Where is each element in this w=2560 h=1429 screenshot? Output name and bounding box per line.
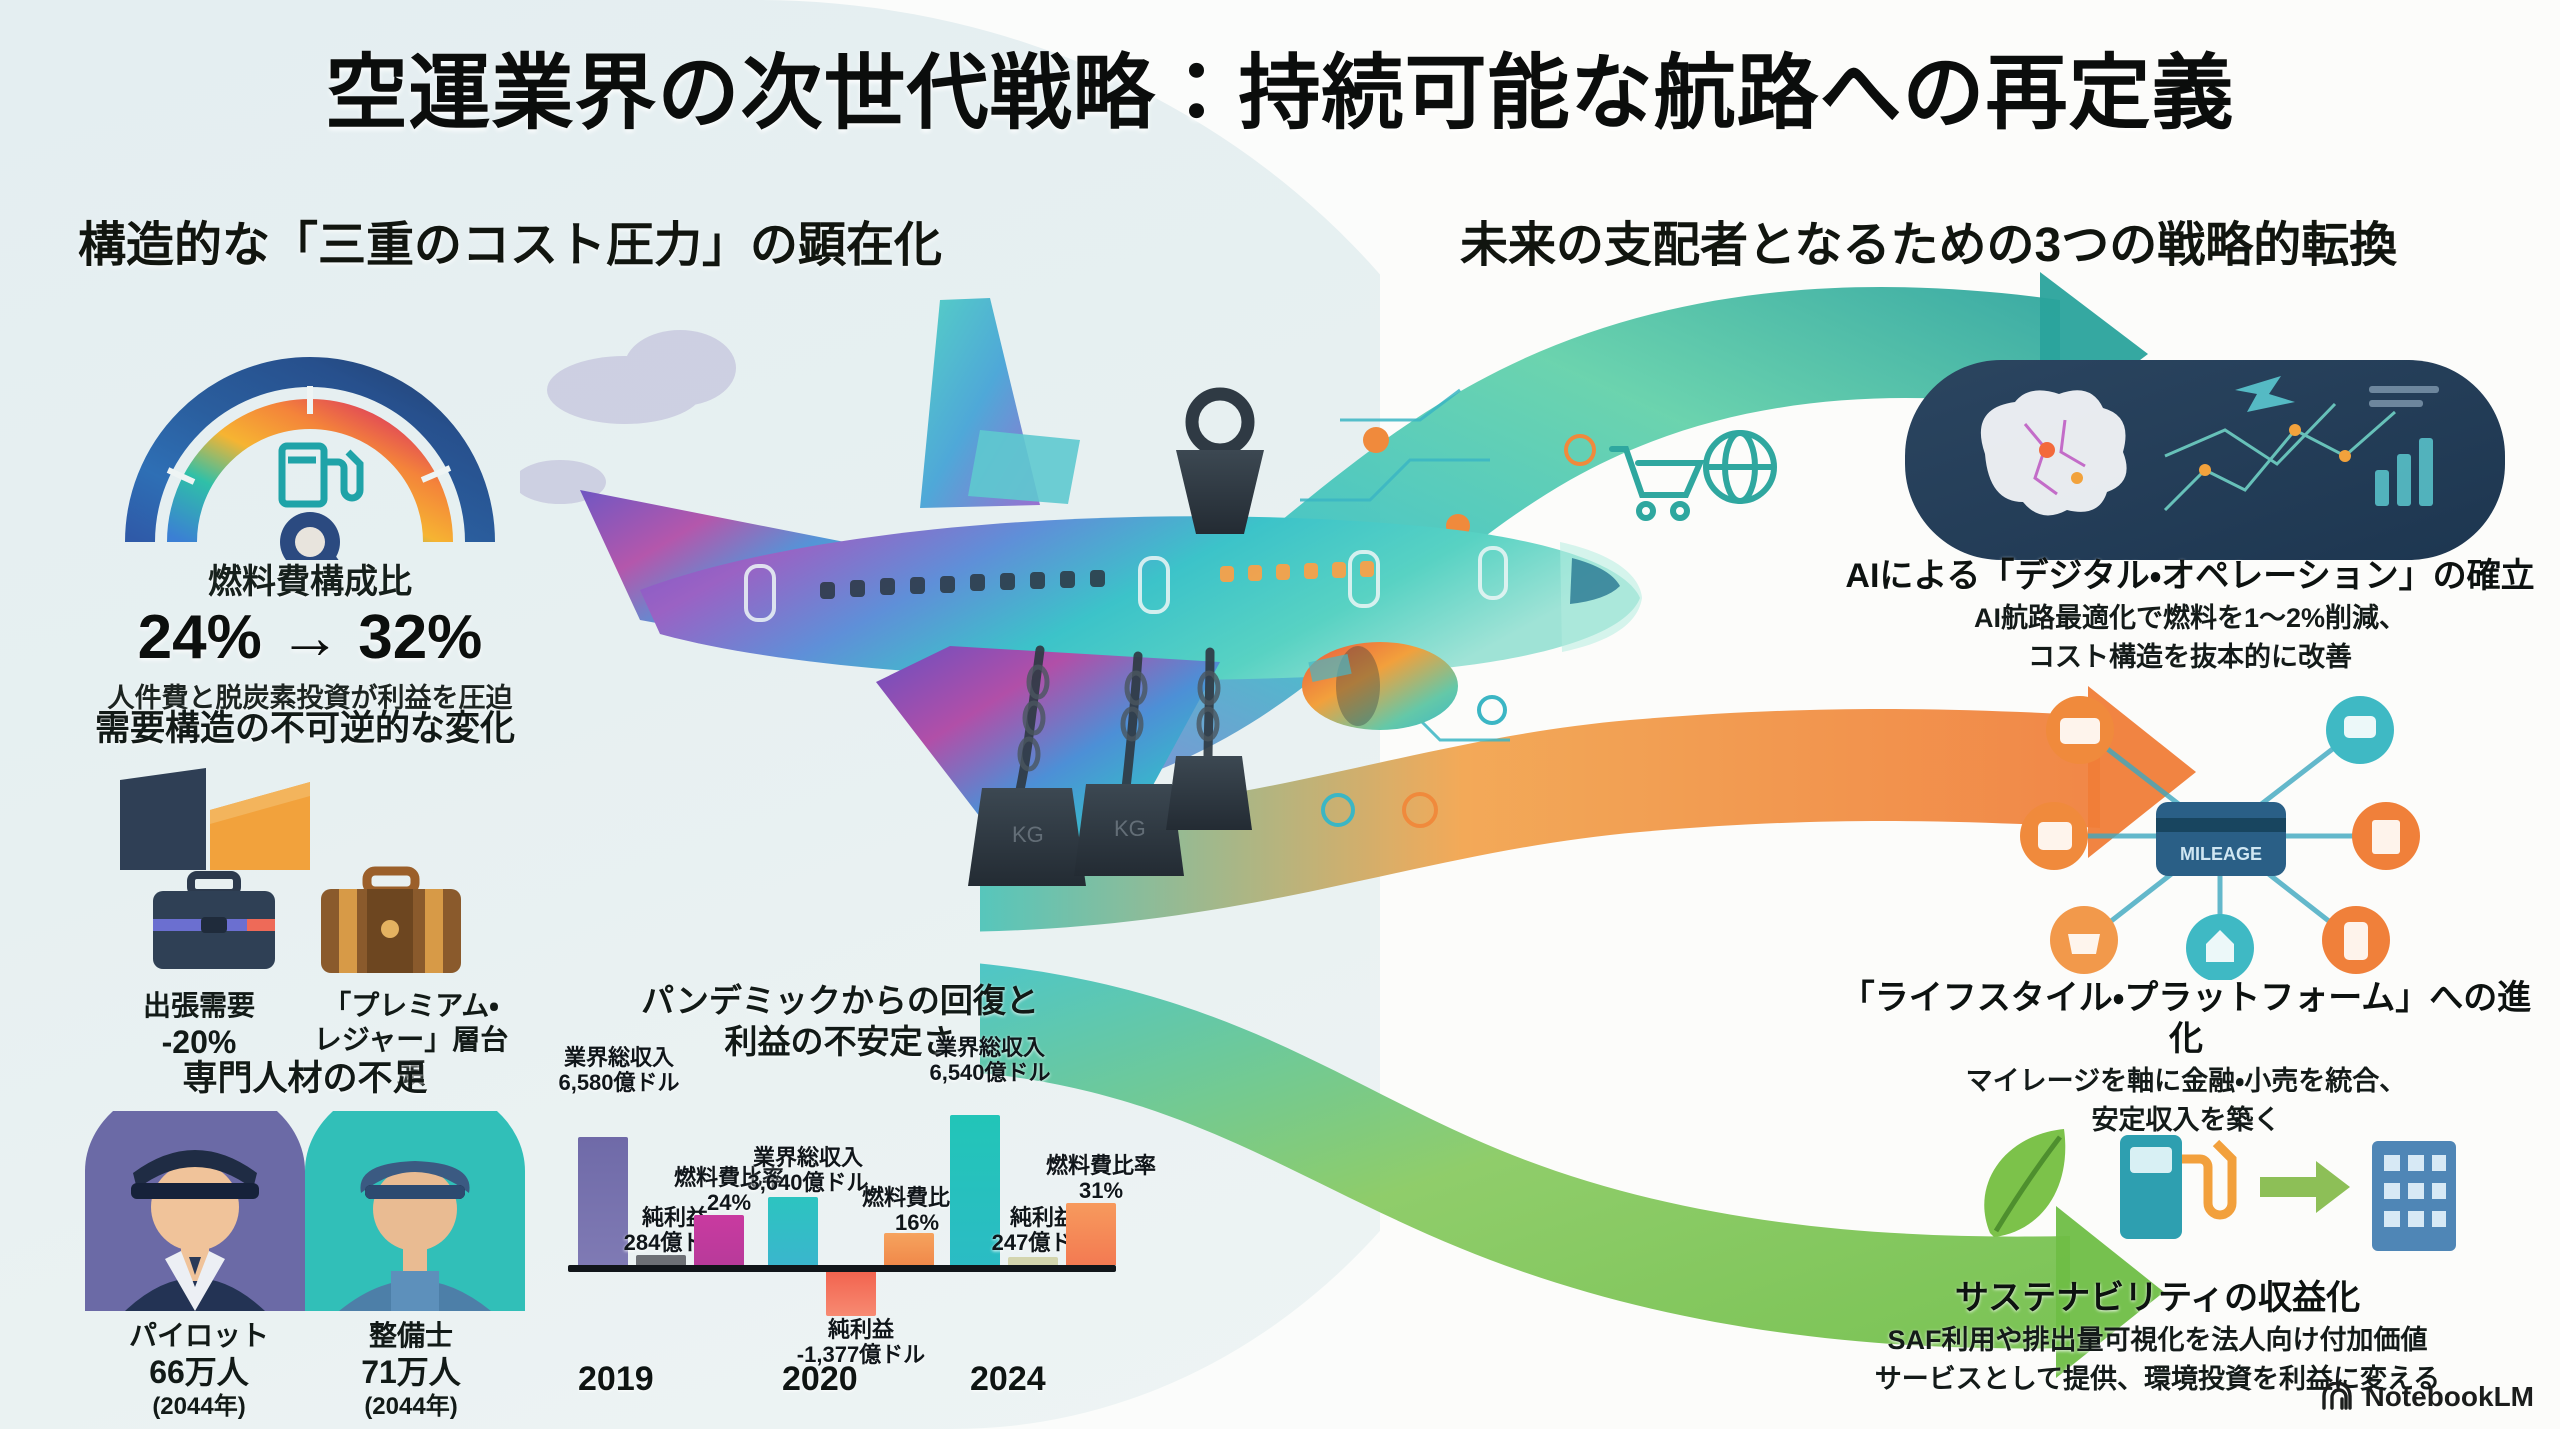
strategy-3-title: サステナビリティの収益化 — [1775, 1278, 2540, 1319]
strategy-3-desc-line1: SAF利用や排出量可視化を法人向け付加価値 — [1775, 1323, 2540, 1358]
bar-2019-fuel — [694, 1215, 744, 1265]
briefcase-icon — [139, 861, 289, 981]
mechanic-value: 71万人 — [311, 1353, 511, 1392]
strategy-sustainability-monetization: サステナビリティの収益化 SAF利用や排出量可視化を法人向け付加価値 サービスと… — [1775, 1278, 2540, 1397]
strategy-1-title: AIによる「デジタル・オペレーション」の確立 — [1840, 556, 2540, 597]
strategy-ai-digital-operations: AIによる「デジタル・オペレーション」の確立 AI航路最適化で燃料を1〜2%削減… — [1840, 556, 2540, 675]
talent-shortage-block: 専門人材の不足 — [70, 1050, 540, 1421]
fuel-cost-value: 24% → 32% — [90, 605, 530, 672]
demand-icon-row — [70, 861, 540, 981]
bar-label-2024-revenue: 業界総収入6,540億ドル — [922, 1035, 1058, 1086]
fuel-pump-icon — [282, 446, 360, 504]
notebooklm-icon — [2320, 1382, 2354, 1412]
gauge-svg — [110, 330, 510, 560]
mechanic-label: 整備士 — [311, 1319, 511, 1353]
recovery-bar-chart: パンデミックからの回復と 利益の不安定さ 業界総収入6,580億ドル 純利益28… — [560, 980, 1120, 1400]
fuel-gauge — [110, 330, 510, 560]
infographic-root: KG KG 空運業界の次世代戦略：持続可能な航路への再定義 構造的な「三重のコス… — [0, 0, 2560, 1429]
business-demand-label: 出張需要 — [99, 989, 299, 1023]
notebooklm-label: NotebookLM — [2364, 1381, 2534, 1413]
demand-shift-block: 需要構造の不可逆的な変化 — [70, 700, 540, 1091]
talent-portraits — [70, 1111, 540, 1311]
pilot-year: (2044年) — [99, 1392, 299, 1421]
pilot-caption: パイロット 66万人 (2044年) — [99, 1319, 299, 1421]
talent-captions: パイロット 66万人 (2044年) 整備士 71万人 (2044年) — [70, 1319, 540, 1421]
bar-2020-profit — [826, 1272, 876, 1316]
bar-2020-fuel — [884, 1233, 934, 1265]
x-axis-label-2019: 2019 — [578, 1360, 654, 1399]
strategy-1-desc-line1: AI航路最適化で燃料を1〜2%削減、 — [1840, 601, 2540, 636]
strategy-2-desc-line2: 安定収入を築く — [1830, 1103, 2542, 1138]
chart-title-line1: パンデミックからの回復と — [560, 980, 1120, 1021]
premium-leisure-label: 「プレミアム・ — [311, 989, 511, 1023]
mechanic-caption: 整備士 71万人 (2044年) — [311, 1319, 511, 1421]
bar-2024-fuel — [1066, 1203, 1116, 1265]
strategy-2-title: 「ライフスタイル・プラットフォーム」への進化 — [1830, 978, 2542, 1060]
talent-block-title: 専門人材の不足 — [70, 1050, 540, 1101]
left-section-header: 構造的な「三重のコスト圧力」の顕在化 — [78, 205, 942, 275]
suitcase-icon — [311, 861, 471, 981]
mechanic-icon — [305, 1111, 525, 1311]
demand-block-title: 需要構造の不可逆的な変化 — [70, 700, 540, 751]
bar-2019-profit — [636, 1255, 686, 1265]
fuel-cost-kpi-block: 燃料費構成比 24% → 32% 人件費と脱炭素投資が利益を圧迫 — [90, 330, 530, 715]
pilot-value: 66万人 — [99, 1353, 299, 1392]
chart-plot-area: 業界総収入6,580億ドル 純利益284億ドル 燃料費比率24% 業界総収入3,… — [560, 1069, 1120, 1339]
pilot-label: パイロット — [99, 1319, 299, 1353]
fuel-cost-label: 燃料費構成比 — [90, 554, 530, 603]
pilot-icon — [85, 1111, 305, 1311]
bar-label-2024-fuel: 燃料費比率31% — [1036, 1153, 1166, 1204]
bar-2020-revenue — [768, 1197, 818, 1265]
bar-label-2019-revenue: 業界総収入6,580億ドル — [554, 1045, 684, 1096]
strategy-1-desc-line2: コスト構造を抜本的に改善 — [1840, 640, 2540, 675]
x-axis-label-2024: 2024 — [970, 1360, 1046, 1399]
right-section-header: 未来の支配者となるための3つの戦略的転換 — [1460, 205, 2397, 275]
bar-2024-profit — [1008, 1257, 1058, 1265]
strategy-2-desc-line1: マイレージを軸に金融・小売を統合、 — [1830, 1064, 2542, 1099]
x-axis-label-2020: 2020 — [782, 1360, 858, 1399]
strategy-lifestyle-platform: 「ライフスタイル・プラットフォーム」への進化 マイレージを軸に金融・小売を統合、… — [1830, 978, 2542, 1138]
page-title: 空運業界の次世代戦略：持続可能な航路への再定義 — [0, 26, 2560, 145]
mechanic-year: (2044年) — [311, 1392, 511, 1421]
notebooklm-watermark: NotebookLM — [2320, 1381, 2534, 1413]
chart-baseline — [568, 1265, 1116, 1272]
